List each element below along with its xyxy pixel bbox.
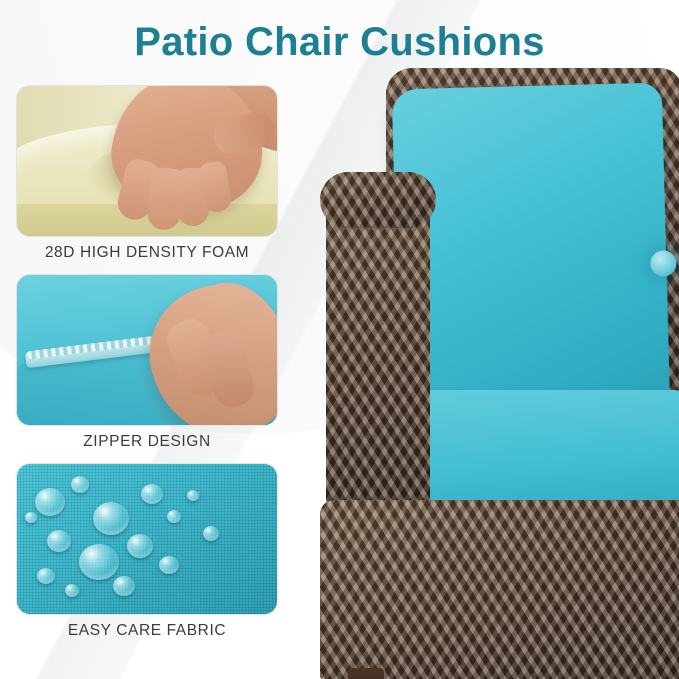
water-bead [203, 526, 219, 541]
feature-label: EASY CARE FABRIC [16, 615, 278, 644]
water-bead [65, 584, 79, 597]
water-bead [141, 484, 163, 504]
water-bead [79, 544, 119, 580]
feature-label: ZIPPER DESIGN [16, 426, 278, 455]
water-bead [127, 534, 153, 558]
page-title: Patio Chair Cushions [0, 20, 679, 65]
feature-item-fabric: EASY CARE FABRIC [16, 463, 278, 644]
water-bead [159, 556, 179, 574]
zipper-closeup-photo [16, 274, 278, 426]
chair-leg [348, 668, 384, 679]
back-cushion [392, 83, 671, 420]
chair-base [320, 500, 679, 679]
feature-item-foam: 28D HIGH DENSITY FOAM [16, 85, 278, 266]
water-bead [93, 502, 129, 535]
foam-hand-press-photo [16, 85, 278, 237]
feature-item-zipper: ZIPPER DESIGN [16, 274, 278, 455]
water-bead [71, 476, 89, 493]
water-bead [25, 512, 37, 523]
water-bead-fabric-photo [16, 463, 278, 615]
water-bead [35, 488, 65, 516]
feature-list: 28D HIGH DENSITY FOAM ZIPPER DESIGN [16, 85, 278, 652]
product-photo [290, 60, 679, 679]
product-infographic: Patio Chair Cushions [0, 0, 679, 679]
water-bead [47, 530, 71, 552]
water-bead [187, 490, 199, 501]
chair-armrest-top [320, 172, 436, 228]
water-bead [113, 576, 135, 596]
water-bead [167, 510, 181, 523]
feature-label: 28D HIGH DENSITY FOAM [16, 237, 278, 266]
water-bead [37, 568, 55, 584]
